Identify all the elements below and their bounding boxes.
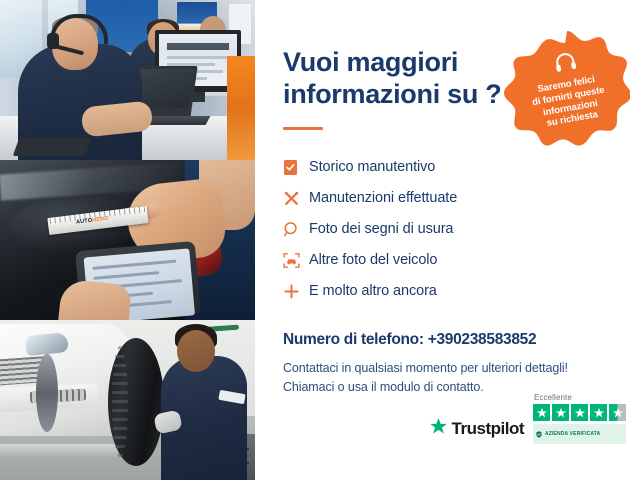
star-half — [609, 404, 626, 421]
photo-mechanic-wheel-inspection — [0, 320, 255, 480]
document-check-icon — [283, 159, 309, 176]
callout-badge: Saremo felici di fornirti queste informa… — [504, 26, 630, 152]
title-divider — [283, 127, 323, 130]
tire-tread — [112, 346, 128, 458]
autohero-logo-auto: AUTO — [76, 218, 93, 226]
feature-label: Altre foto del veicolo — [309, 252, 437, 268]
magnifier-icon — [283, 221, 309, 238]
feature-list: Storico manutentivo Manutenzioni effettu… — [283, 152, 640, 307]
phone-block: Numero di telefono: +390238583852 Contat… — [283, 331, 640, 397]
rating-label: Eccellente — [534, 393, 572, 402]
photo-vehicle-inspection: AUTOHERO — [0, 160, 255, 320]
feature-item-maintenance-done: Manutenzioni effettuate — [283, 183, 640, 214]
verified-shield-icon — [536, 425, 542, 443]
trustpilot-rating: Eccellente — [533, 393, 626, 444]
star-filled — [552, 404, 569, 421]
feature-item-vehicle-photos: Altre foto del veicolo — [283, 245, 640, 276]
star-filled — [533, 404, 550, 421]
content-panel: Vuoi maggiori informazioni su ? Storico … — [255, 0, 640, 480]
photo-column: AUTOHERO — [0, 0, 255, 480]
orange-display-stand — [227, 56, 255, 160]
verified-business-badge: AZIENDA VERIFICATA — [533, 424, 626, 444]
phone-subtext: Contattaci in qualsiasi momento per ulte… — [283, 359, 640, 397]
monitor-toolbar — [167, 43, 229, 50]
phone-subtext-line-2: Chiamaci o usa il modulo di contatto. — [283, 380, 484, 394]
tablet-row — [93, 271, 159, 280]
trustpilot-wordmark: Trustpilot — [452, 419, 524, 439]
trustpilot-logo[interactable]: Trustpilot — [429, 417, 524, 444]
car-tire — [108, 338, 164, 466]
tools-cross-icon — [283, 190, 309, 207]
badge-starburst-shape — [504, 26, 630, 152]
tablet-row — [92, 260, 176, 270]
feature-label: E molto altro ancora — [309, 283, 437, 299]
headline-line-2: informazioni su ? — [283, 79, 501, 109]
monitor-row — [167, 56, 229, 59]
feature-item-wear-photos: Foto dei segni di usura — [283, 214, 640, 245]
feature-label: Storico manutentivo — [309, 159, 435, 175]
autohero-logo-hero: HERO — [92, 216, 109, 224]
verified-label: AZIENDA VERIFICATA — [545, 431, 600, 437]
car-photo-frame-icon — [283, 252, 309, 269]
page-title: Vuoi maggiori informazioni su ? — [283, 46, 533, 111]
star-filled — [590, 404, 607, 421]
mechanic-head — [177, 330, 215, 372]
plus-icon — [283, 283, 309, 300]
trustpilot-star-icon — [429, 417, 448, 441]
contact-info-banner: AUTOHERO — [0, 0, 640, 480]
feature-item-maintenance-history: Storico manutentivo — [283, 152, 640, 183]
feature-item-more: E molto altro ancora — [283, 276, 640, 307]
desk-tablet — [13, 138, 92, 156]
feature-label: Manutenzioni effettuate — [309, 190, 457, 206]
photo-call-center-agents — [0, 0, 255, 160]
phone-subtext-line-1: Contattaci in qualsiasi momento per ulte… — [283, 361, 568, 375]
star-filled — [571, 404, 588, 421]
star-rating — [533, 404, 626, 421]
vehicle-lift-arm — [0, 444, 118, 458]
phone-number-label[interactable]: Numero di telefono: +390238583852 — [283, 331, 640, 349]
headline-line-1: Vuoi maggiori — [283, 47, 458, 77]
trustpilot-widget[interactable]: Trustpilot Eccellente — [429, 393, 626, 444]
feature-label: Foto dei segni di usura — [309, 221, 453, 237]
wheel-rim — [36, 354, 58, 432]
